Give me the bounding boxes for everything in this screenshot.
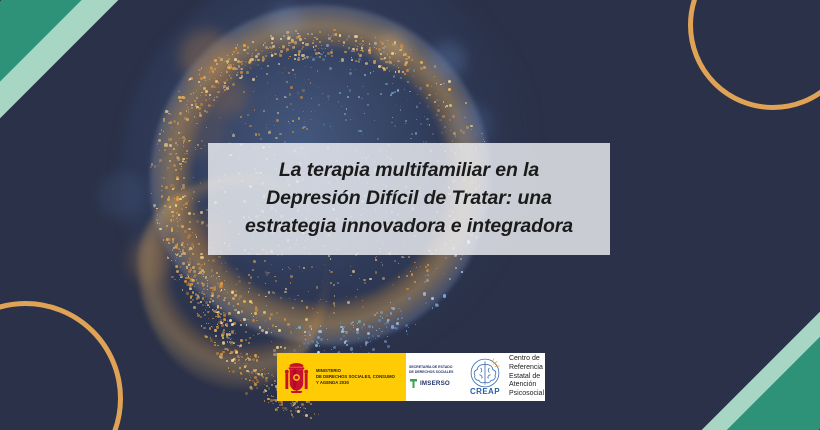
imserso-name: IMSERSO — [420, 380, 450, 387]
title-overlay-box: La terapia multifamiliar en la Depresión… — [208, 143, 610, 255]
creap-logo: CREAP — [463, 358, 507, 396]
institutional-logo-bar: MINISTERIO DE DERECHOS SOCIALES, CONSUMO… — [277, 353, 545, 401]
imserso-logo: SECRETARÍA DE ESTADO DE DERECHOS SOCIALE… — [409, 365, 463, 389]
ministry-logo: MINISTERIO DE DERECHOS SOCIALES, CONSUMO… — [277, 353, 406, 401]
secretaria-line-2: DE DERECHOS SOCIALES — [409, 370, 463, 375]
creap-name-line-5: Psicosocial — [509, 390, 544, 399]
imserso-creap-logos: SECRETARÍA DE ESTADO DE DERECHOS SOCIALE… — [406, 353, 545, 401]
spanish-coat-of-arms-icon — [282, 361, 311, 394]
top-left-green-stripes — [0, 0, 210, 210]
brain-line-art-icon — [468, 358, 502, 388]
ministry-name: MINISTERIO DE DERECHOS SOCIALES, CONSUMO… — [316, 368, 395, 386]
bottom-right-green-stripes — [610, 220, 820, 430]
imserso-wordmark-row: IMSERSO — [409, 378, 463, 389]
ministry-line-3: Y AGENDA 2030 — [316, 380, 395, 386]
creap-acronym: CREAP — [470, 387, 500, 396]
imserso-mark-icon — [409, 378, 418, 389]
creap-name-line-2: Referencia — [509, 364, 544, 373]
presentation-slide: La terapia multifamiliar en la Depresión… — [0, 0, 820, 430]
secretaria-name: SECRETARÍA DE ESTADO DE DERECHOS SOCIALE… — [409, 365, 463, 374]
page-title: La terapia multifamiliar en la Depresión… — [230, 157, 588, 240]
creap-name-line-1: Centro de — [509, 355, 544, 364]
creap-name-line-3: Estatal de — [509, 373, 544, 382]
creap-name-line-4: Atención — [509, 381, 544, 390]
creap-full-name: Centro de Referencia Estatal de Atención… — [507, 355, 544, 400]
